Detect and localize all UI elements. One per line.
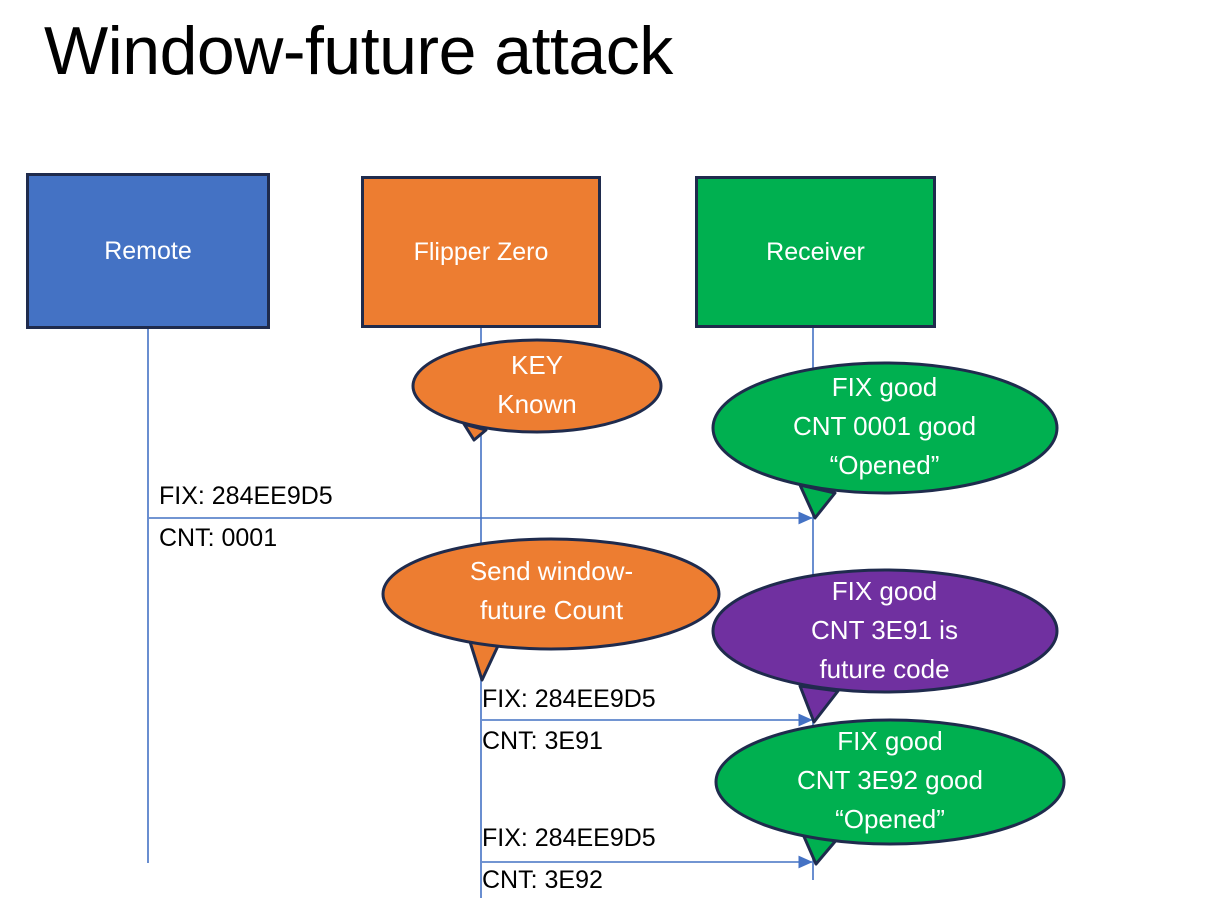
actor-box-flipper-zero[interactable]: Flipper Zero xyxy=(361,176,601,328)
message-1-cnt-label: CNT: 0001 xyxy=(159,523,277,553)
message-3-cnt-label: CNT: 3E92 xyxy=(482,865,603,895)
diagram-svg xyxy=(0,0,1216,898)
callout-send-window xyxy=(383,539,719,680)
message-3-fix-label: FIX: 284EE9D5 xyxy=(482,823,656,853)
actor-label-flipper-zero: Flipper Zero xyxy=(414,237,549,267)
callout-green-second xyxy=(716,720,1064,864)
message-1-fix-label: FIX: 284EE9D5 xyxy=(159,481,333,511)
slide-canvas: Window-future attack xyxy=(0,0,1216,898)
actor-label-receiver: Receiver xyxy=(766,237,865,267)
actor-label-remote: Remote xyxy=(104,236,192,266)
callout-key-known xyxy=(413,340,661,440)
callout-green-first xyxy=(713,363,1057,518)
actor-box-receiver[interactable]: Receiver xyxy=(695,176,936,328)
actor-box-remote[interactable]: Remote xyxy=(26,173,270,329)
callout-purple-future xyxy=(713,570,1057,722)
message-2-fix-label: FIX: 284EE9D5 xyxy=(482,684,656,714)
message-2-cnt-label: CNT: 3E91 xyxy=(482,726,603,756)
